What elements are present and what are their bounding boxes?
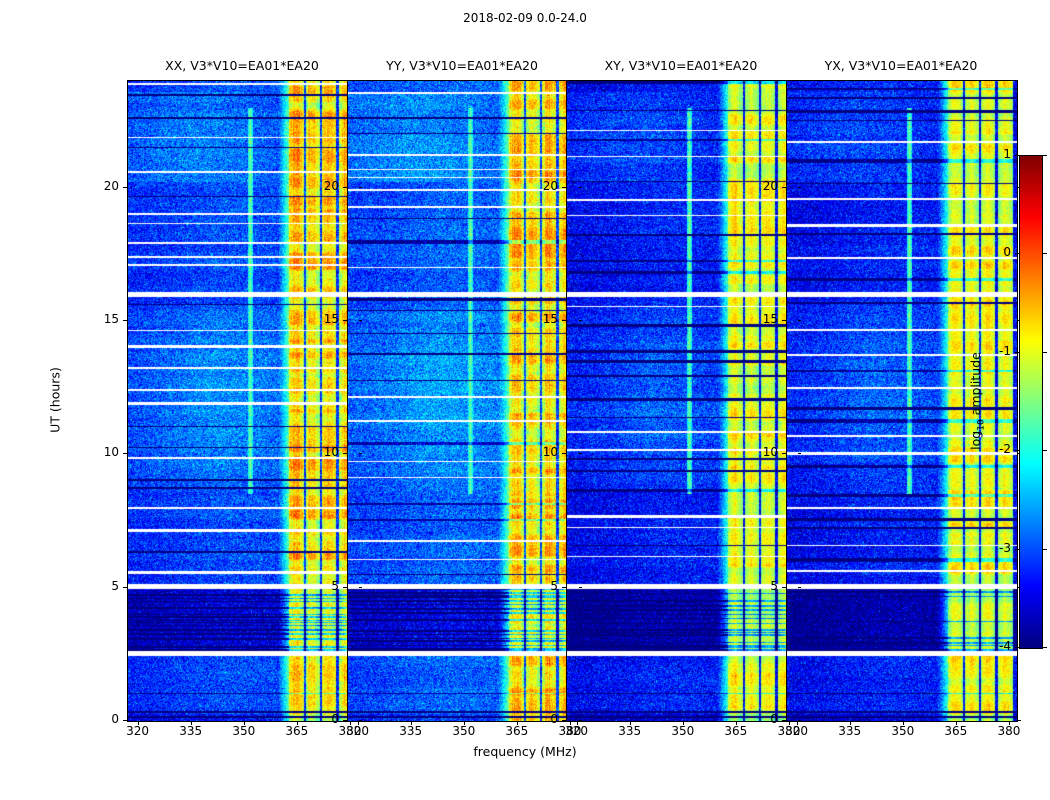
x-tick-label: 335 bbox=[825, 724, 875, 738]
y-tick-mark bbox=[359, 320, 362, 321]
x-tick-label: 350 bbox=[878, 724, 928, 738]
y-tick-mark bbox=[798, 320, 801, 321]
colorbar[interactable] bbox=[1019, 155, 1043, 649]
y-tick-mark bbox=[579, 720, 582, 721]
colorbar-label: log10 amplitude bbox=[968, 352, 987, 450]
y-tick-mark bbox=[782, 320, 786, 321]
y-tick-label: 20 bbox=[524, 179, 558, 193]
y-tick-label: 5 bbox=[85, 579, 119, 593]
x-axis-label: frequency (MHz) bbox=[0, 744, 1050, 759]
x-tick-label: 320 bbox=[333, 724, 383, 738]
y-tick-mark bbox=[562, 453, 566, 454]
y-tick-mark bbox=[798, 587, 801, 588]
y-tick-mark bbox=[798, 720, 801, 721]
colorbar-tick-mark bbox=[1043, 253, 1047, 254]
x-tick-label: 320 bbox=[552, 724, 602, 738]
figure-suptitle: 2018-02-09 0.0-24.0 bbox=[0, 11, 1050, 25]
y-tick-label: 5 bbox=[744, 579, 778, 593]
panel-title-yx: YX, V3*V10=EA01*EA20 bbox=[786, 58, 1016, 73]
heatmap-panel-yy[interactable] bbox=[347, 80, 579, 722]
x-tick-label: 350 bbox=[658, 724, 708, 738]
y-tick-mark bbox=[343, 720, 347, 721]
heatmap-panel-xx[interactable] bbox=[127, 80, 359, 722]
colorbar-tick-mark bbox=[1015, 253, 1019, 254]
colorbar-tick-mark bbox=[1043, 155, 1047, 156]
y-tick-label: 10 bbox=[744, 445, 778, 459]
y-tick-mark bbox=[798, 187, 801, 188]
y-tick-mark bbox=[579, 453, 582, 454]
colorbar-tick-mark bbox=[1043, 450, 1047, 451]
x-tick-label: 320 bbox=[772, 724, 822, 738]
y-tick-mark bbox=[579, 587, 582, 588]
y-tick-mark bbox=[562, 320, 566, 321]
y-tick-mark bbox=[123, 453, 127, 454]
y-tick-label: 15 bbox=[524, 312, 558, 326]
y-tick-mark bbox=[343, 320, 347, 321]
y-tick-mark bbox=[579, 320, 582, 321]
panel-title-xx: XX, V3*V10=EA01*EA20 bbox=[127, 58, 357, 73]
panel-title-yy: YY, V3*V10=EA01*EA20 bbox=[347, 58, 577, 73]
y-tick-mark bbox=[359, 187, 362, 188]
y-tick-mark bbox=[579, 187, 582, 188]
colorbar-tick-mark bbox=[1043, 549, 1047, 550]
y-tick-mark bbox=[343, 453, 347, 454]
y-tick-mark bbox=[782, 187, 786, 188]
y-tick-label: 20 bbox=[744, 179, 778, 193]
y-tick-mark bbox=[123, 187, 127, 188]
colorbar-tick-mark bbox=[1015, 450, 1019, 451]
x-tick-label: 365 bbox=[711, 724, 761, 738]
y-tick-mark bbox=[782, 453, 786, 454]
y-tick-mark bbox=[343, 587, 347, 588]
y-tick-label: 10 bbox=[305, 445, 339, 459]
x-tick-label: 335 bbox=[166, 724, 216, 738]
x-tick-label: 335 bbox=[605, 724, 655, 738]
y-tick-label: 5 bbox=[524, 579, 558, 593]
y-tick-mark bbox=[798, 453, 801, 454]
heatmap-panel-xy[interactable] bbox=[566, 80, 798, 722]
y-tick-mark bbox=[562, 187, 566, 188]
y-tick-mark bbox=[123, 587, 127, 588]
colorbar-tick-mark bbox=[1043, 352, 1047, 353]
y-tick-mark bbox=[562, 587, 566, 588]
y-tick-mark bbox=[359, 453, 362, 454]
y-tick-mark bbox=[359, 587, 362, 588]
y-axis-label: UT (hours) bbox=[48, 367, 63, 433]
y-tick-mark bbox=[1018, 720, 1021, 721]
y-tick-label: 5 bbox=[305, 579, 339, 593]
colorbar-tick-mark bbox=[1015, 647, 1019, 648]
y-tick-mark bbox=[782, 587, 786, 588]
colorbar-tick-label: -4 bbox=[975, 639, 1011, 653]
y-tick-mark bbox=[123, 720, 127, 721]
x-tick-label: 350 bbox=[219, 724, 269, 738]
panel-title-xy: XY, V3*V10=EA01*EA20 bbox=[566, 58, 796, 73]
y-tick-mark bbox=[782, 720, 786, 721]
y-tick-label: 20 bbox=[305, 179, 339, 193]
colorbar-tick-mark bbox=[1015, 352, 1019, 353]
colorbar-tick-label: 0 bbox=[975, 245, 1011, 259]
y-tick-mark bbox=[359, 720, 362, 721]
y-tick-label: 15 bbox=[85, 312, 119, 326]
y-tick-mark bbox=[343, 187, 347, 188]
x-tick-label: 365 bbox=[492, 724, 542, 738]
y-tick-label: 15 bbox=[305, 312, 339, 326]
y-tick-label: 20 bbox=[85, 179, 119, 193]
y-tick-label: 15 bbox=[744, 312, 778, 326]
y-tick-label: 10 bbox=[85, 445, 119, 459]
colorbar-tick-label: -3 bbox=[975, 541, 1011, 555]
colorbar-tick-label: 1 bbox=[975, 147, 1011, 161]
figure-canvas: 2018-02-09 0.0-24.0 XX, V3*V10=EA01*EA20… bbox=[0, 0, 1050, 800]
x-tick-label: 320 bbox=[113, 724, 163, 738]
y-tick-label: 10 bbox=[524, 445, 558, 459]
x-tick-label: 365 bbox=[931, 724, 981, 738]
colorbar-tick-mark bbox=[1043, 647, 1047, 648]
x-tick-label: 350 bbox=[439, 724, 489, 738]
colorbar-tick-mark bbox=[1015, 155, 1019, 156]
x-tick-label: 335 bbox=[386, 724, 436, 738]
x-tick-label: 380 bbox=[984, 724, 1034, 738]
y-tick-mark bbox=[123, 320, 127, 321]
colorbar-tick-mark bbox=[1015, 549, 1019, 550]
x-tick-label: 365 bbox=[272, 724, 322, 738]
y-tick-mark bbox=[562, 720, 566, 721]
